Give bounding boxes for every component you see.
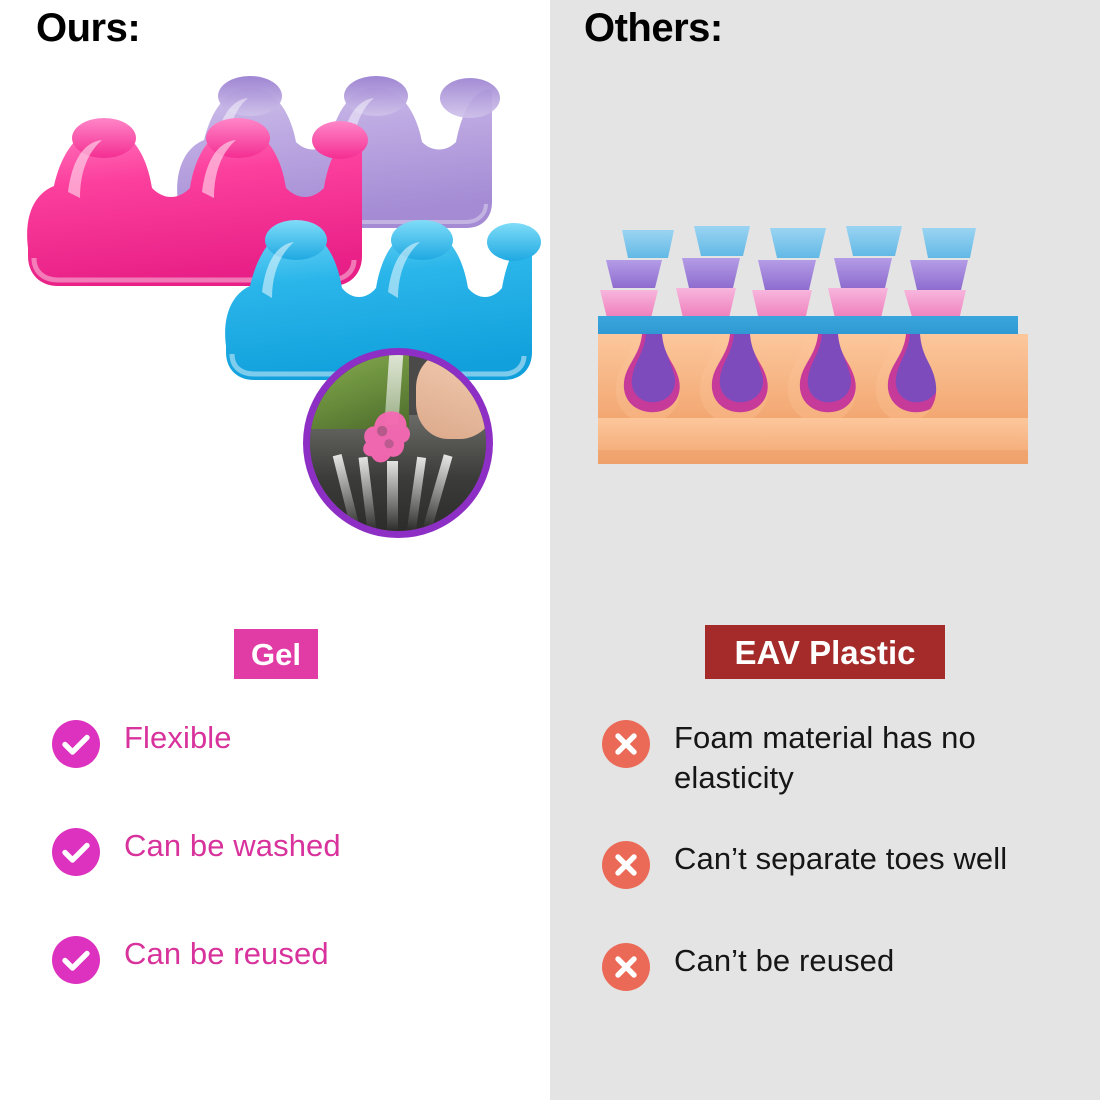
list-item: Can’t be reused xyxy=(602,941,1072,991)
list-item: Foam material has no elasticity xyxy=(602,718,1072,799)
comparison-infographic: Ours: Others: Gel EAV Plastic Flexible C… xyxy=(0,0,1100,1100)
list-item-label: Can be reused xyxy=(124,934,329,974)
list-item-label: Flexible xyxy=(124,718,232,758)
page-title-ours: Ours: xyxy=(36,8,140,48)
list-item-label: Can’t separate toes well xyxy=(674,839,1007,879)
washing-photo-inset xyxy=(303,348,493,538)
material-badge-gel: Gel xyxy=(234,629,318,679)
check-circle-icon xyxy=(52,828,100,876)
list-item-label: Can be washed xyxy=(124,826,341,866)
x-circle-icon xyxy=(602,841,650,889)
x-circle-icon xyxy=(602,943,650,991)
material-badge-eav-plastic: EAV Plastic xyxy=(705,625,945,679)
check-circle-icon xyxy=(52,936,100,984)
page-title-others: Others: xyxy=(584,8,723,48)
x-circle-icon xyxy=(602,720,650,768)
list-item-label: Foam material has no elasticity xyxy=(674,718,1014,799)
list-item-label: Can’t be reused xyxy=(674,941,894,981)
ours-feature-list: Flexible Can be washed Can be reused xyxy=(52,718,512,1042)
others-feature-list: Foam material has no elasticity Can’t se… xyxy=(602,718,1072,1031)
check-circle-icon xyxy=(52,720,100,768)
foam-separators-image xyxy=(550,200,1100,530)
list-item: Flexible xyxy=(52,718,512,768)
list-item: Can be washed xyxy=(52,826,512,876)
list-item: Can be reused xyxy=(52,934,512,984)
list-item: Can’t separate toes well xyxy=(602,839,1072,889)
